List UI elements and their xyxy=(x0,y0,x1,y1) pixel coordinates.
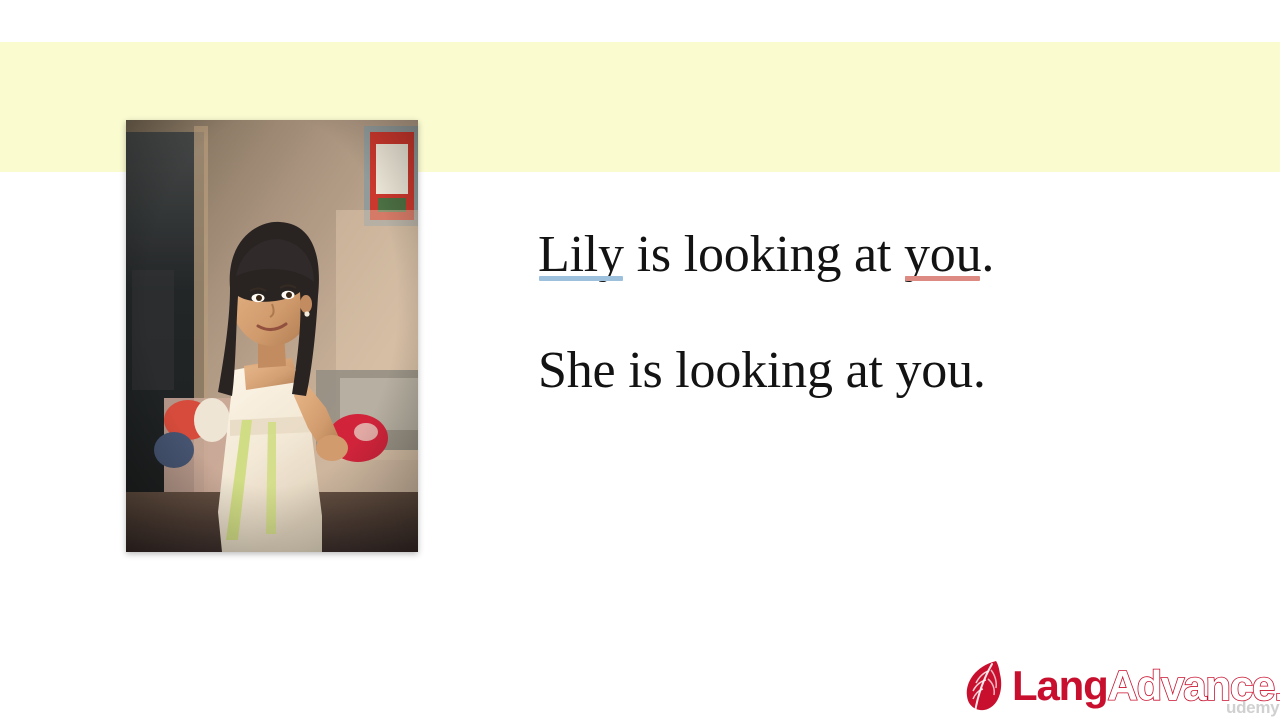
object-highlight: you xyxy=(904,228,981,282)
udemy-watermark: udemy xyxy=(1226,699,1279,716)
sentence-block: Lily is looking at you. She is looking a… xyxy=(538,228,1158,398)
leaf-icon xyxy=(962,658,1008,714)
object-underline xyxy=(905,276,980,281)
slide-canvas: Lily is looking at you. She is looking a… xyxy=(0,0,1280,720)
sentence-line-2: She is looking at you. xyxy=(538,344,1158,398)
subject-text: Lily xyxy=(538,226,624,283)
subject-underline xyxy=(539,276,623,281)
brand-logo[interactable]: LangAdvance.comudemy xyxy=(962,658,1280,714)
subject-highlight: Lily xyxy=(538,228,624,282)
line1-middle-text: is looking at xyxy=(624,226,904,283)
logo-word-primary: Lang xyxy=(1012,662,1108,709)
lesson-photo xyxy=(126,120,418,552)
sentence-line-1: Lily is looking at you. xyxy=(538,228,1158,282)
object-text: you xyxy=(904,226,981,283)
photo-illustration xyxy=(126,120,418,552)
logo-wordmark: LangAdvance.comudemy xyxy=(1012,665,1280,707)
line1-period: . xyxy=(981,226,994,283)
